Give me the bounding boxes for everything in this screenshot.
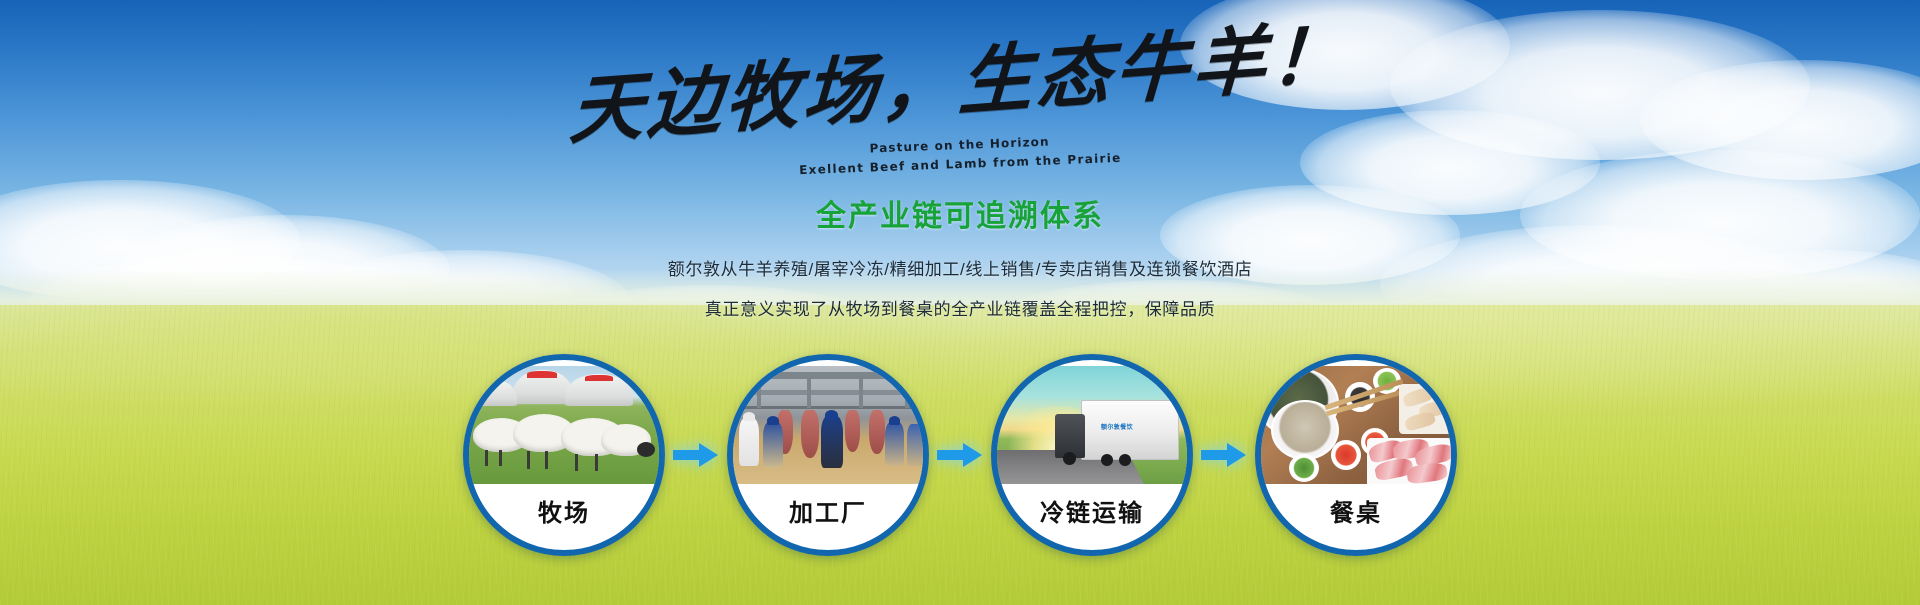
arrow-right-icon — [1193, 435, 1255, 475]
cold-chain-truck-icon: 额尔敦餐饮 — [997, 366, 1187, 484]
chain-node-factory[interactable]: 加工厂 — [727, 354, 929, 556]
chain-node-dining-table[interactable]: 餐桌 — [1255, 354, 1457, 556]
chain-node-label: 牧场 — [469, 484, 659, 536]
arrow-right-icon — [665, 435, 727, 475]
promotional-banner: 天边牧场，生态牛羊！ Pasture on the Horizon Exelle… — [0, 0, 1920, 605]
factory-icon — [733, 366, 923, 484]
chain-node-label: 加工厂 — [733, 484, 923, 536]
supply-chain-flow: 牧场 — [0, 340, 1920, 570]
description-line-1: 额尔敦从牛羊养殖/屠宰冷冻/精细加工/线上销售/专卖店销售及连锁餐饮酒店 — [0, 255, 1920, 280]
truck-body-text: 额尔敦餐饮 — [1101, 422, 1133, 431]
pasture-sheep-icon — [469, 366, 659, 484]
chain-node-label: 冷链运输 — [997, 484, 1187, 536]
headline-block: 天边牧场，生态牛羊！ Pasture on the Horizon Exelle… — [0, 0, 1920, 320]
chain-node-cold-chain[interactable]: 额尔敦餐饮 冷链运输 — [991, 354, 1193, 556]
chain-node-label: 餐桌 — [1261, 484, 1451, 536]
chain-node-pasture[interactable]: 牧场 — [463, 354, 665, 556]
description-line-2: 真正意义实现了从牧场到餐桌的全产业链覆盖全程把控，保障品质 — [0, 295, 1920, 320]
dining-table-icon — [1261, 366, 1451, 484]
arrow-right-icon — [929, 435, 991, 475]
